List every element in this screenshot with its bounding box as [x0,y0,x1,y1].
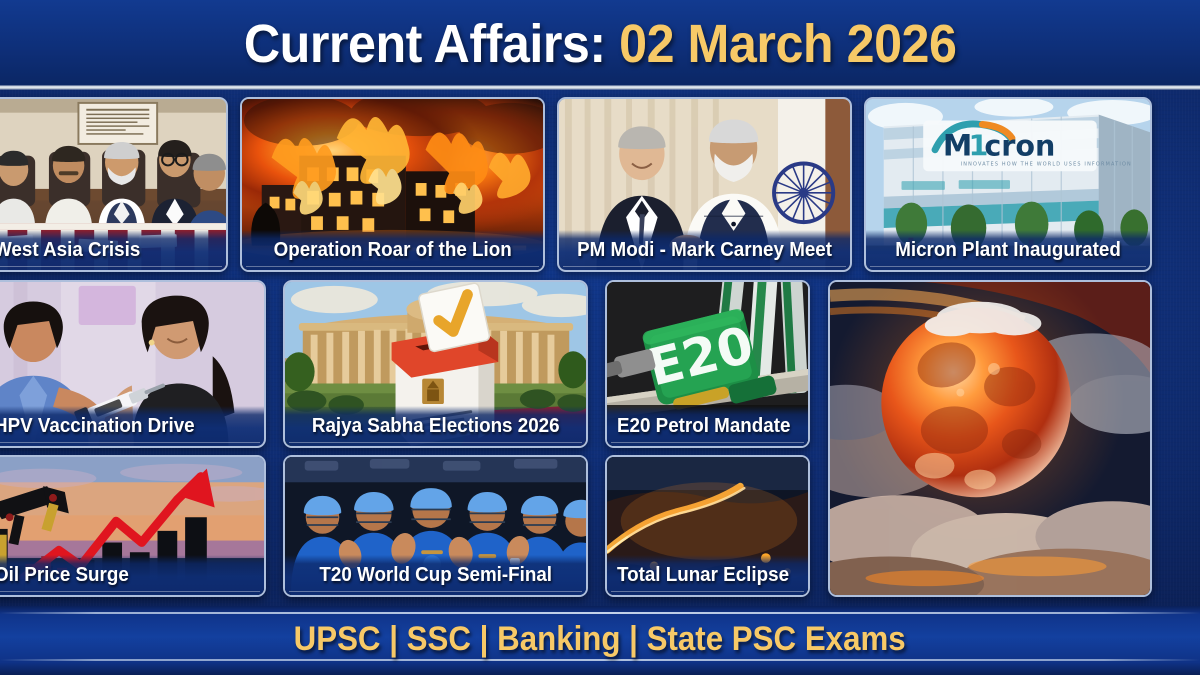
page-title: Current Affairs: 02 March 2026 [244,17,957,71]
card-caption-operation-roar-lion: Operation Roar of the Lion [242,230,543,270]
card-label-operation-roar-lion: Operation Roar of the Lion [273,240,511,260]
caption-underline [0,266,222,267]
poster-canvas: Current Affairs: 02 March 2026 [0,0,1200,675]
card-caption-t20-world-cup: T20 World Cup Semi-Final [285,555,586,595]
news-card-west-asia-crisis[interactable]: West Asia Crisis [0,97,228,272]
svg-text:cron: cron [984,130,1055,163]
caption-underline [246,266,539,267]
footer-exam-list: UPSC | SSC | Banking | State PSC Exams [294,622,906,656]
card-caption-total-lunar-eclipse: Total Lunar Eclipse [607,555,808,595]
card-caption-micron-plant: Micron Plant Inaugurated [866,230,1150,270]
news-card-rajya-sabha-elections[interactable]: Rajya Sabha Elections 2026 [283,280,588,448]
card-label-west-asia-crisis: West Asia Crisis [0,240,140,260]
news-card-blood-moon-feature[interactable] [828,280,1152,597]
news-card-e20-petrol[interactable]: E20 E20 Petrol Mandate [605,280,810,448]
news-card-grid: West Asia Crisis [0,92,1200,602]
card-label-micron-plant: Micron Plant Inaugurated [895,240,1121,260]
card-label-oil-price-surge: Oil Price Surge [0,565,129,585]
news-card-operation-roar-lion[interactable]: Operation Roar of the Lion [240,97,545,272]
footer-divider-bottom [0,659,1200,661]
card-caption-west-asia-crisis: West Asia Crisis [0,230,226,270]
caption-underline [289,442,582,443]
card-label-modi-carney-meet: PM Modi - Mark Carney Meet [577,240,832,260]
news-card-t20-world-cup[interactable]: T20 World Cup Semi-Final [283,455,588,597]
caption-underline [0,591,260,592]
caption-underline [563,266,846,267]
card-label-total-lunar-eclipse: Total Lunar Eclipse [617,565,789,585]
card-caption-e20-petrol: E20 Petrol Mandate [607,406,808,446]
footer-divider-top [0,612,1200,614]
news-card-hpv-vaccination[interactable]: HPV Vaccination Drive [0,280,266,448]
card-caption-rajya-sabha-elections: Rajya Sabha Elections 2026 [285,406,586,446]
svg-text:INNOVATES HOW THE WORLD USES I: INNOVATES HOW THE WORLD USES INFORMATION [961,161,1132,167]
card-caption-oil-price-surge: Oil Price Surge [0,555,264,595]
card-label-e20-petrol: E20 Petrol Mandate [617,416,790,436]
card-caption-modi-carney-meet: PM Modi - Mark Carney Meet [559,230,850,270]
caption-underline [0,442,260,443]
caption-underline [289,591,582,592]
page-title-date: 02 March 2026 [619,14,956,74]
page-footer: UPSC | SSC | Banking | State PSC Exams [0,606,1200,675]
caption-underline [611,442,804,443]
card-image-blood-moon-feature [830,282,1150,595]
news-card-modi-carney-meet[interactable]: PM Modi - Mark Carney Meet [557,97,852,272]
caption-underline [870,266,1146,267]
card-label-hpv-vaccination: HPV Vaccination Drive [0,416,195,436]
page-title-main: Current Affairs: [244,14,619,74]
card-caption-hpv-vaccination: HPV Vaccination Drive [0,406,264,446]
news-card-oil-price-surge[interactable]: Oil Price Surge [0,455,266,597]
news-card-total-lunar-eclipse[interactable]: Total Lunar Eclipse [605,455,810,597]
card-label-rajya-sabha-elections: Rajya Sabha Elections 2026 [312,416,560,436]
page-header: Current Affairs: 02 March 2026 [0,0,1200,88]
news-card-micron-plant[interactable]: M 1 cron INNOVATES HOW THE WORLD USES IN… [864,97,1152,272]
card-label-t20-world-cup: T20 World Cup Semi-Final [319,565,552,585]
caption-underline [611,591,804,592]
header-divider [0,85,1200,90]
